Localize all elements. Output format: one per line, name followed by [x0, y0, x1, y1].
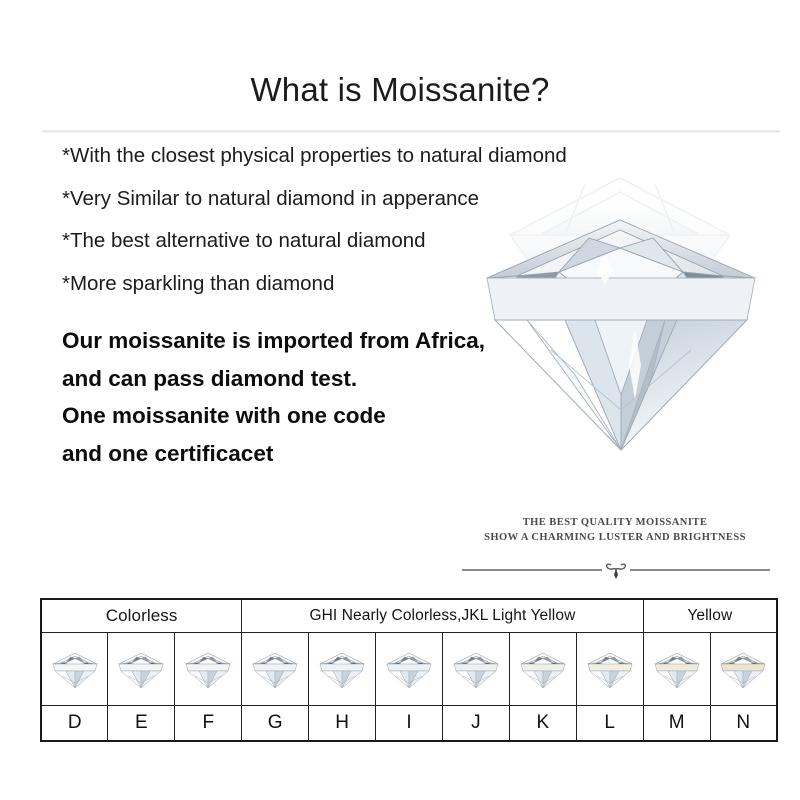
- ornament-divider: [462, 558, 770, 580]
- gem-cell-j: [442, 633, 509, 706]
- gem-cell-i: [376, 633, 443, 706]
- statement-line: One moissanite with one code: [62, 405, 582, 428]
- page-title: What is Moissanite?: [0, 72, 800, 108]
- feature-bullet-list: *With the closest physical properties to…: [62, 146, 622, 316]
- grade-letter-d: D: [41, 706, 108, 742]
- gem-cell-e: [108, 633, 175, 706]
- bullet-item: *The best alternative to natural diamond: [62, 231, 622, 252]
- quality-tagline: THE BEST QUALITY MOISSANITE SHOW A CHARM…: [450, 515, 780, 545]
- diamond-grade-icon: [577, 633, 643, 705]
- tagline-line-2: SHOW A CHARMING LUSTER AND BRIGHTNESS: [450, 530, 780, 545]
- grade-letter-f: F: [175, 706, 242, 742]
- gem-cell-g: [242, 633, 309, 706]
- gem-cell-f: [175, 633, 242, 706]
- grade-letter-h: H: [309, 706, 376, 742]
- origin-statement-block: Our moissanite is imported from Africa, …: [62, 330, 582, 480]
- title-divider: [42, 130, 780, 133]
- diamond-grade-icon: [711, 633, 776, 705]
- gem-cell-m: [643, 633, 710, 706]
- diamond-grade-icon: [242, 633, 308, 705]
- divider-line-right: [630, 569, 770, 571]
- gem-cell-n: [710, 633, 777, 706]
- gem-cell-d: [41, 633, 108, 706]
- bullet-item: *More sparkling than diamond: [62, 274, 622, 295]
- grade-letter-l: L: [576, 706, 643, 742]
- bullet-item: *With the closest physical properties to…: [62, 146, 622, 167]
- diamond-grade-icon: [510, 633, 576, 705]
- grade-group-header-yellow: Yellow: [643, 599, 777, 633]
- diamond-grade-icon: [108, 633, 174, 705]
- grade-letter-n: N: [710, 706, 777, 742]
- grade-group-header-colorless: Colorless: [41, 599, 242, 633]
- grade-letter-m: M: [643, 706, 710, 742]
- grade-group-header-nearly-colorless: GHI Nearly Colorless,JKL Light Yellow: [242, 599, 643, 633]
- table-header-row: Colorless GHI Nearly Colorless,JKL Light…: [41, 599, 777, 633]
- diamond-grade-icon: [42, 633, 107, 705]
- diamond-grade-icon: [175, 633, 241, 705]
- gem-cell-l: [576, 633, 643, 706]
- diamond-grade-icon: [376, 633, 442, 705]
- statement-line: and one certificacet: [62, 443, 582, 466]
- diamond-grade-icon: [309, 633, 375, 705]
- gem-cell-k: [509, 633, 576, 706]
- gem-cell-h: [309, 633, 376, 706]
- color-grade-table: Colorless GHI Nearly Colorless,JKL Light…: [40, 598, 778, 742]
- moissanite-infographic: What is Moissanite?: [0, 0, 800, 800]
- grade-letter-g: G: [242, 706, 309, 742]
- statement-line: and can pass diamond test.: [62, 368, 582, 391]
- tagline-line-1: THE BEST QUALITY MOISSANITE: [450, 515, 780, 530]
- grade-letter-j: J: [442, 706, 509, 742]
- grade-letter-e: E: [108, 706, 175, 742]
- fleuron-ornament-icon: [601, 558, 631, 580]
- grade-letter-k: K: [509, 706, 576, 742]
- statement-line: Our moissanite is imported from Africa,: [62, 330, 582, 353]
- table-letter-row: D E F G H I J K L M N: [41, 706, 777, 742]
- diamond-grade-icon: [644, 633, 710, 705]
- grade-letter-i: I: [376, 706, 443, 742]
- diamond-grade-icon: [443, 633, 509, 705]
- divider-line-left: [462, 569, 602, 571]
- bullet-item: *Very Similar to natural diamond in appe…: [62, 189, 622, 210]
- table-gem-row: [41, 633, 777, 706]
